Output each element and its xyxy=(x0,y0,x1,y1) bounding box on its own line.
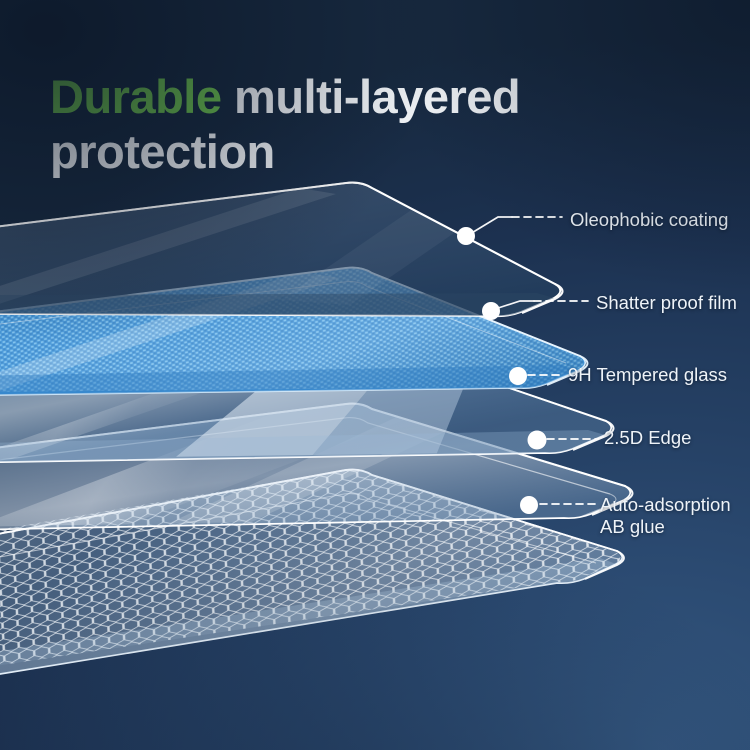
callout-label-oleophobic-coating: Oleophobic coating xyxy=(570,209,728,231)
title-line2: protection xyxy=(50,125,275,178)
leader-hook-oleophobic xyxy=(470,217,512,234)
marker-dot-glue xyxy=(520,496,538,514)
marker-dot-oleophobic xyxy=(457,227,475,245)
infographic-canvas: Durable multi-layered protection Oleopho… xyxy=(0,0,750,750)
callout-label-2-5d-edge: 2.5D Edge xyxy=(604,427,691,449)
page-title: Durable multi-layered protection xyxy=(50,69,690,179)
callout-label-auto-adsorption-ab-glue: Auto-adsorption AB glue xyxy=(600,494,750,538)
title-rest-line1: multi-layered xyxy=(222,70,521,123)
callout-label-glue-line2: AB glue xyxy=(600,516,665,537)
layer-oleophobic-coating xyxy=(0,183,563,318)
title-accent-word: Durable xyxy=(50,70,222,123)
marker-dot-25d xyxy=(528,431,547,450)
marker-dot-9h xyxy=(509,367,527,385)
marker-dot-shatter xyxy=(482,302,500,320)
callout-label-glue-line1: Auto-adsorption xyxy=(600,494,731,515)
callout-label-shatter-proof-film: Shatter proof film xyxy=(596,292,737,314)
callout-label-9h-tempered-glass: 9H Tempered glass xyxy=(568,364,727,386)
